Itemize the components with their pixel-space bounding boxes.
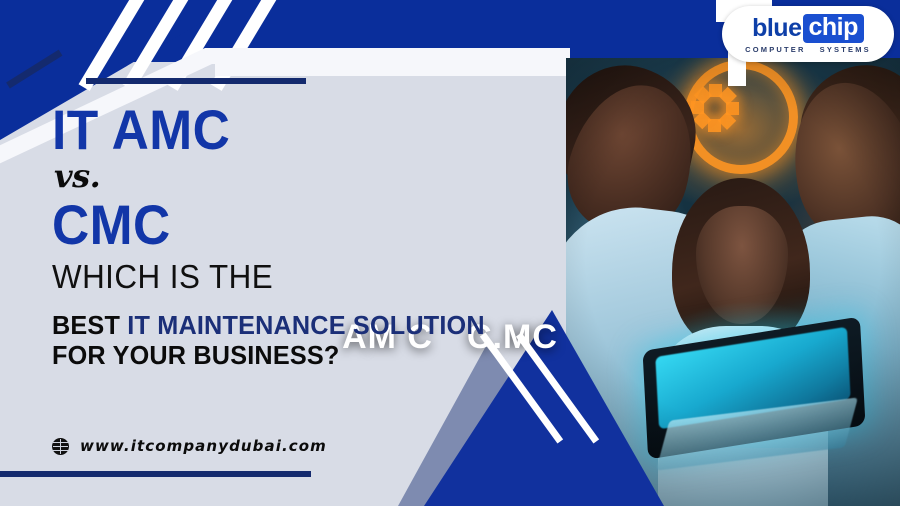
logo-wordmark: bluechip: [745, 14, 871, 43]
headline-subtext-line1: BEST IT MAINTENANCE SOLUTION: [52, 310, 547, 340]
headline-best: BEST: [52, 310, 127, 340]
headline-subtext: BEST IT MAINTENANCE SOLUTION FOR YOUR BU…: [52, 310, 547, 370]
headline-vs: vs.: [54, 156, 562, 196]
logo-word-blue: blue: [752, 16, 801, 41]
logo-tagline-systems: SYSTEMS: [820, 46, 871, 54]
promo-banner: AM C C.MC bluechip COMPUTER SYSTEMS IT A…: [0, 0, 900, 506]
logo-tagline-computer: COMPUTER: [745, 46, 806, 54]
logo-word-chip: chip: [803, 14, 864, 43]
headline-subtext-line2: FOR YOUR BUSINESS?: [52, 340, 547, 370]
website-url[interactable]: www.itcompanydubai.com: [80, 437, 327, 455]
logo-inner: bluechip COMPUTER SYSTEMS: [745, 14, 871, 54]
globe-icon: [52, 438, 69, 455]
headline-cmc: CMC: [52, 198, 521, 252]
bluechip-logo[interactable]: bluechip COMPUTER SYSTEMS: [722, 6, 894, 62]
logo-tagline: COMPUTER SYSTEMS: [745, 46, 871, 54]
website-row[interactable]: www.itcompanydubai.com: [52, 437, 327, 455]
headline-block: IT AMC vs. CMC WHICH IS THE BEST IT MAIN…: [52, 104, 562, 370]
headline-accent: IT MAINTENANCE SOLUTION: [127, 310, 485, 340]
top-divider-rule: [86, 78, 306, 84]
headline-it-amc: IT AMC: [52, 104, 521, 156]
bottom-divider-rule: [0, 471, 311, 477]
headline-which-is-the: WHICH IS THE: [52, 259, 537, 295]
band-underline-strip: [215, 62, 615, 76]
